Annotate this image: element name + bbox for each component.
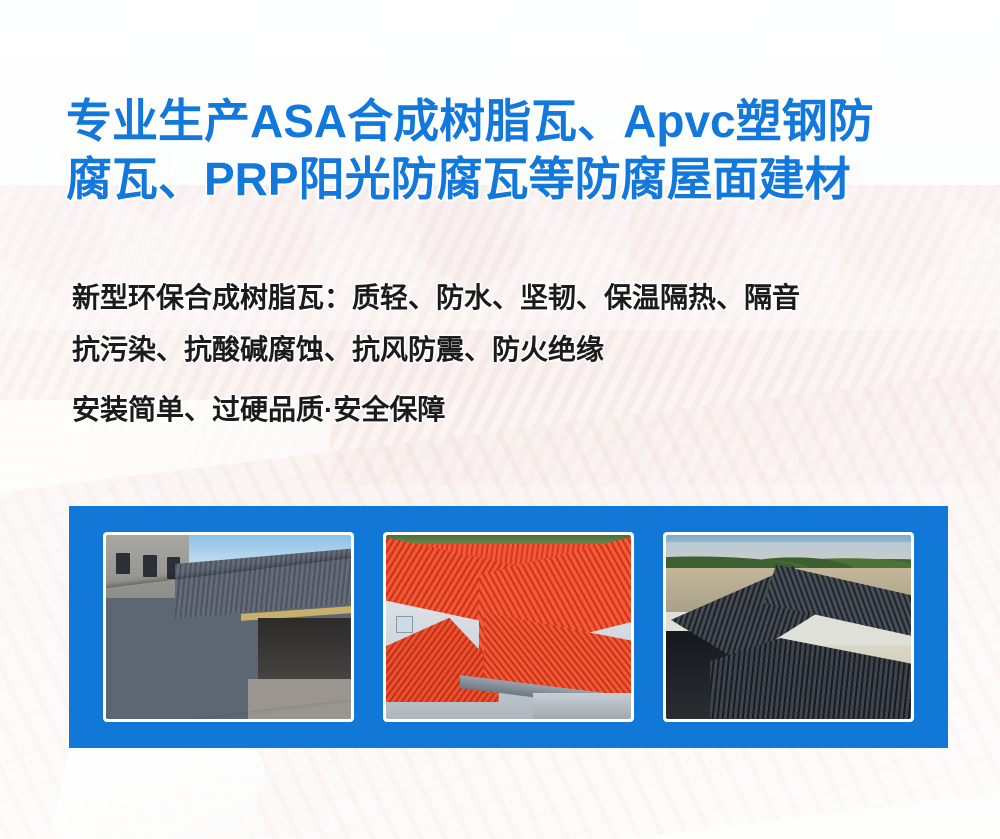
headline: 专业生产ASA合成树脂瓦、Apvc塑钢防 腐瓦、PRP阳光防腐瓦等防腐屋面建材 <box>66 92 946 208</box>
photo1-window <box>143 555 158 577</box>
subheadline-line-3: 安装简单、过硬品质·安全保障 <box>72 384 962 436</box>
subheadline-line-1: 新型环保合成树脂瓦：质轻、防水、坚韧、保温隔热、隔音 <box>72 272 962 324</box>
photo-gallery-panel <box>69 506 948 748</box>
red-resin-tile-roof-photo <box>386 535 631 719</box>
photo-frame-3[interactable] <box>663 532 914 722</box>
photo2-window <box>396 616 413 633</box>
photo-frame-2[interactable] <box>383 532 634 722</box>
photo2-lower-building <box>533 693 631 719</box>
headline-line-1: 专业生产ASA合成树脂瓦、Apvc塑钢防 <box>66 92 946 150</box>
photo1-window <box>116 553 131 573</box>
subheadline: 新型环保合成树脂瓦：质轻、防水、坚韧、保温隔热、隔音 抗污染、抗酸碱腐蚀、抗风防… <box>72 272 962 436</box>
dark-resin-tile-roof-photo <box>666 535 911 719</box>
headline-line-2: 腐瓦、PRP阳光防腐瓦等防腐屋面建材 <box>66 150 946 208</box>
banner-content: 专业生产ASA合成树脂瓦、Apvc塑钢防 腐瓦、PRP阳光防腐瓦等防腐屋面建材 … <box>0 0 1000 839</box>
photo-frame-1[interactable] <box>103 532 354 722</box>
grey-resin-tile-roof-photo <box>106 535 351 719</box>
product-promo-banner: 专业生产ASA合成树脂瓦、Apvc塑钢防 腐瓦、PRP阳光防腐瓦等防腐屋面建材 … <box>0 0 1000 839</box>
photo-gallery-row <box>103 532 914 722</box>
subheadline-line-2: 抗污染、抗酸碱腐蚀、抗风防震、防火绝缘 <box>72 324 962 376</box>
